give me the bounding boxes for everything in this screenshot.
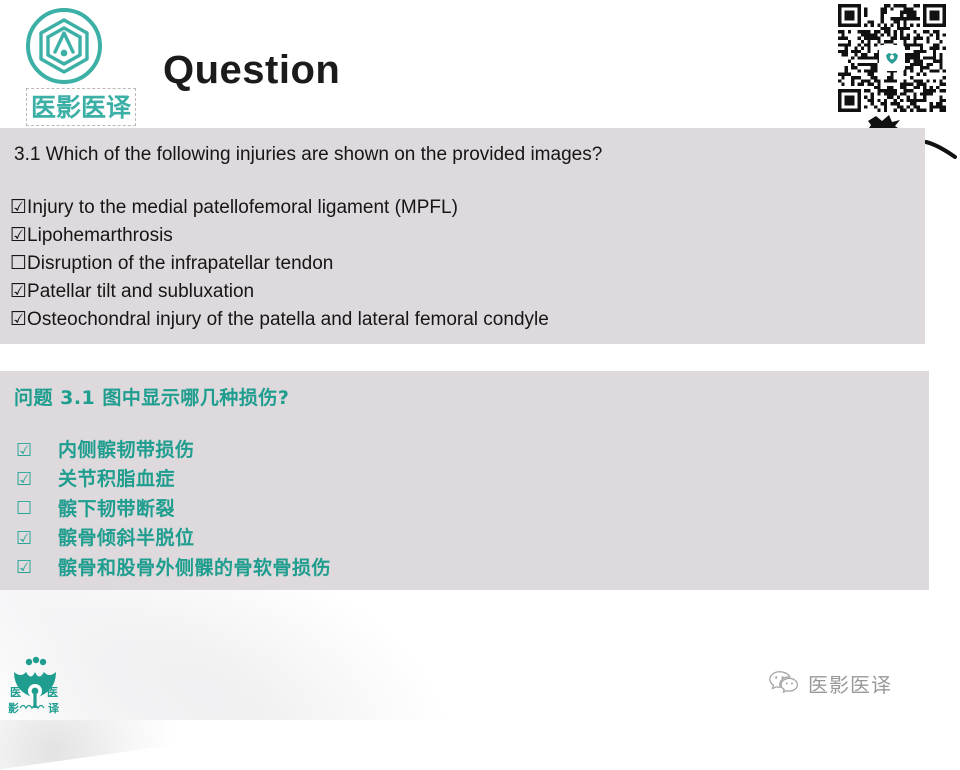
chinese-option-item[interactable]: ☑髌骨和股骨外侧髁的骨软骨损伤	[10, 554, 911, 583]
medical-lotus-logo-icon: 医 医 影 译	[2, 654, 68, 716]
chinese-option-item[interactable]: ☐髌下韧带断裂	[10, 495, 911, 524]
wechat-footer: 医影医译	[769, 669, 892, 698]
english-option-item[interactable]: ☑Injury to the medial patellofemoral lig…	[10, 194, 907, 222]
chinese-option-item[interactable]: ☑内侧髌韧带损伤	[10, 436, 911, 465]
brand-text: 医影医译	[31, 95, 131, 120]
chinese-option-label: 髌骨和股骨外侧髁的骨软骨损伤	[40, 554, 331, 583]
chinese-option-list: ☑内侧髌韧带损伤☑关节积脂血症☐髌下韧带断裂☑髌骨倾斜半脱位☑髌骨和股骨外侧髁的…	[10, 436, 911, 583]
checkbox-checked-icon[interactable]: ☑	[10, 194, 27, 221]
english-option-label: Injury to the medial patellofemoral liga…	[27, 195, 458, 222]
english-option-label: Lipohemarthrosis	[27, 223, 173, 250]
checkbox-checked-icon[interactable]: ☑	[10, 525, 40, 553]
slide-canvas: 医影医译 Question 3.1 Which of the following…	[0, 0, 960, 720]
wechat-label: 医影医译	[808, 669, 892, 698]
english-question-panel: 3.1 Which of the following injuries are …	[0, 128, 925, 344]
chinese-option-item[interactable]: ☑关节积脂血症	[10, 465, 911, 494]
chinese-option-label: 髌下韧带断裂	[40, 495, 175, 524]
svg-text:医: 医	[10, 686, 21, 699]
english-option-label: Disruption of the infrapatellar tendon	[27, 251, 333, 278]
hex-cube-circle-logo-icon	[24, 6, 104, 86]
checkbox-unchecked-icon[interactable]: ☐	[10, 495, 40, 523]
qr-code-icon[interactable]	[838, 4, 946, 112]
svg-text:译: 译	[48, 702, 60, 715]
english-option-label: Osteochondral injury of the patella and …	[27, 307, 549, 334]
svg-text:影: 影	[8, 701, 19, 715]
checkbox-checked-icon[interactable]: ☑	[10, 222, 27, 249]
ink-stroke-mark-icon	[924, 140, 958, 160]
checkbox-checked-icon[interactable]: ☑	[10, 437, 40, 465]
page-title: Question	[163, 48, 340, 93]
english-option-item[interactable]: ☐Disruption of the infrapatellar tendon	[10, 250, 907, 278]
chinese-option-item[interactable]: ☑髌骨倾斜半脱位	[10, 524, 911, 553]
english-option-item[interactable]: ☑Lipohemarthrosis	[10, 222, 907, 250]
english-option-item[interactable]: ☑Patellar tilt and subluxation	[10, 278, 907, 306]
svg-text:医: 医	[47, 686, 58, 699]
chinese-translation-panel: 问题 3.1 图中显示哪几种损伤? ☑内侧髌韧带损伤☑关节积脂血症☐髌下韧带断裂…	[0, 371, 929, 590]
checkbox-checked-icon[interactable]: ☑	[10, 306, 27, 333]
english-option-list: ☑Injury to the medial patellofemoral lig…	[10, 194, 907, 334]
brand-text-box: 医影医译	[26, 88, 136, 126]
checkbox-checked-icon[interactable]: ☑	[10, 278, 27, 305]
english-option-item[interactable]: ☑Osteochondral injury of the patella and…	[10, 306, 907, 334]
brand-logo: 医影医译	[18, 6, 110, 118]
checkbox-checked-icon[interactable]: ☑	[10, 554, 40, 582]
chinese-option-label: 髌骨倾斜半脱位	[40, 524, 195, 553]
chinese-option-label: 内侧髌韧带损伤	[40, 436, 195, 465]
checkbox-unchecked-icon[interactable]: ☐	[10, 250, 27, 277]
chinese-option-label: 关节积脂血症	[40, 465, 175, 494]
checkbox-checked-icon[interactable]: ☑	[10, 466, 40, 494]
chinese-question-heading: 问题 3.1 图中显示哪几种损伤?	[14, 387, 911, 410]
question-stem: 3.1 Which of the following injuries are …	[14, 142, 907, 168]
qr-center-logo-icon	[879, 45, 905, 71]
wechat-icon	[769, 670, 799, 698]
english-option-label: Patellar tilt and subluxation	[27, 279, 254, 306]
